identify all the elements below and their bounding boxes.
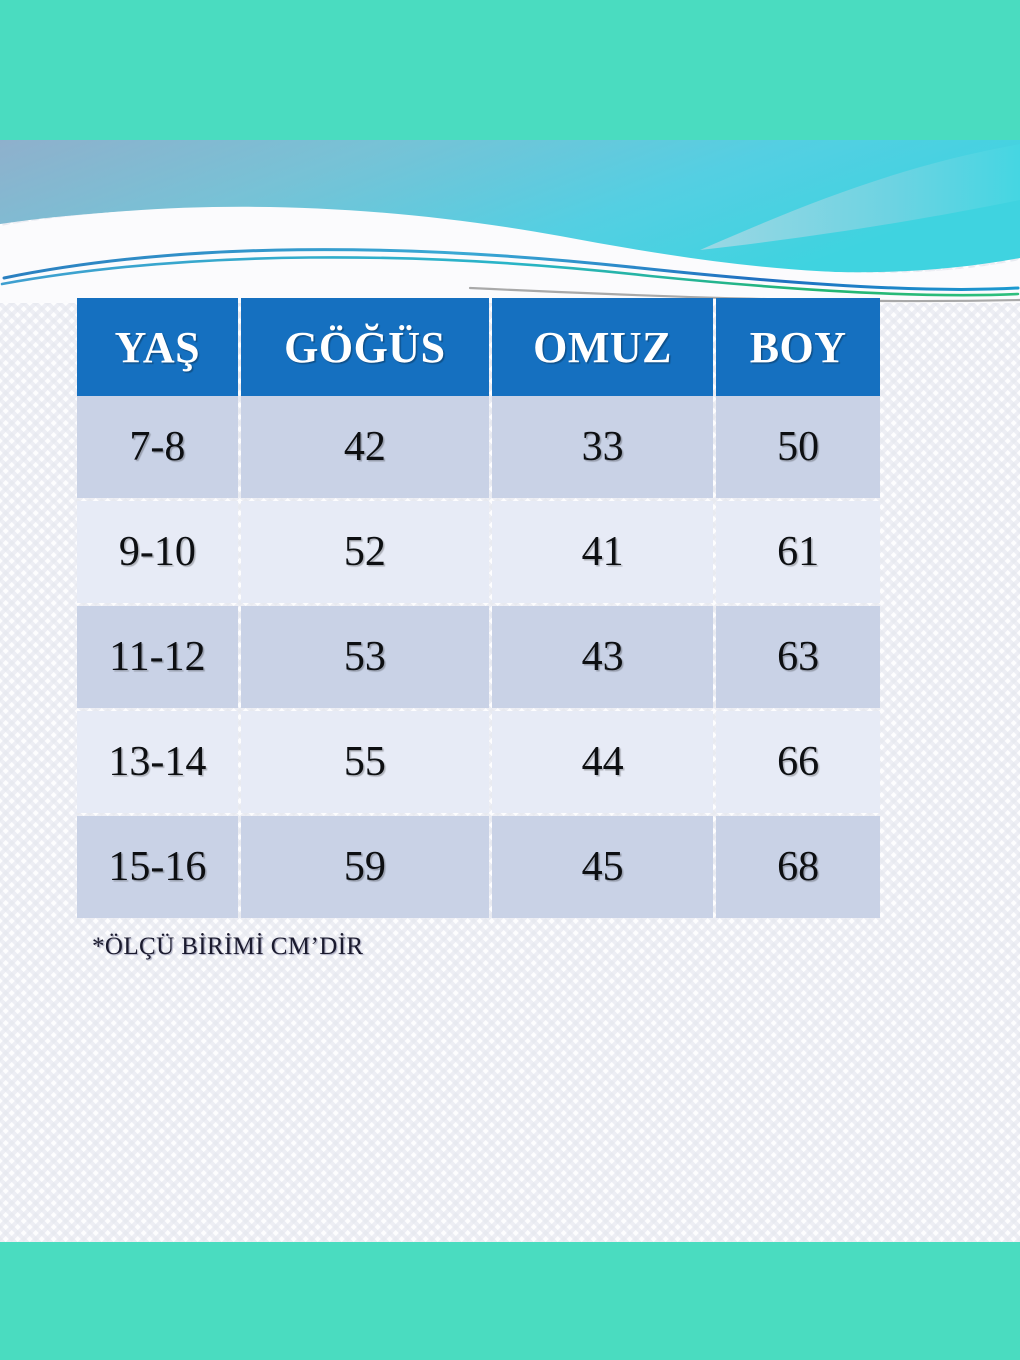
cell-yas: 15-16: [77, 816, 238, 918]
column-header-omuz: OMUZ: [492, 298, 713, 396]
table-row: 13-14 55 44 66: [77, 711, 880, 813]
size-table: YAŞ GÖĞÜS OMUZ BOY 7-8 42 33 50 9-10 52 …: [77, 298, 880, 918]
column-header-yas: YAŞ: [77, 298, 238, 396]
cell-gogus: 52: [241, 501, 489, 603]
header-wave-decoration: [0, 138, 1020, 303]
cell-boy: 61: [716, 501, 880, 603]
table-header-row: YAŞ GÖĞÜS OMUZ BOY: [77, 298, 880, 396]
table-row: 15-16 59 45 68: [77, 816, 880, 918]
table-row: 7-8 42 33 50: [77, 396, 880, 498]
cell-gogus: 59: [241, 816, 489, 918]
top-teal-band: [0, 0, 1020, 140]
cell-yas: 13-14: [77, 711, 238, 813]
cell-omuz: 41: [492, 501, 713, 603]
table-row: 11-12 53 43 63: [77, 606, 880, 708]
cell-boy: 66: [716, 711, 880, 813]
column-header-gogus: GÖĞÜS: [241, 298, 489, 396]
column-header-boy: BOY: [716, 298, 880, 396]
cell-omuz: 44: [492, 711, 713, 813]
bottom-teal-band: [0, 1242, 1020, 1360]
cell-omuz: 45: [492, 816, 713, 918]
size-chart-page: YAŞ GÖĞÜS OMUZ BOY 7-8 42 33 50 9-10 52 …: [0, 0, 1020, 1360]
cell-yas: 11-12: [77, 606, 238, 708]
cell-boy: 68: [716, 816, 880, 918]
cell-gogus: 55: [241, 711, 489, 813]
cell-yas: 7-8: [77, 396, 238, 498]
cell-yas: 9-10: [77, 501, 238, 603]
table-body: 7-8 42 33 50 9-10 52 41 61 11-12 53 43 6…: [77, 396, 880, 918]
cell-boy: 63: [716, 606, 880, 708]
measurement-unit-note: *ÖLÇÜ BİRİMİ CM’DİR: [92, 933, 364, 961]
cell-gogus: 42: [241, 396, 489, 498]
table-row: 9-10 52 41 61: [77, 501, 880, 603]
cell-omuz: 33: [492, 396, 713, 498]
cell-gogus: 53: [241, 606, 489, 708]
cell-omuz: 43: [492, 606, 713, 708]
cell-boy: 50: [716, 396, 880, 498]
